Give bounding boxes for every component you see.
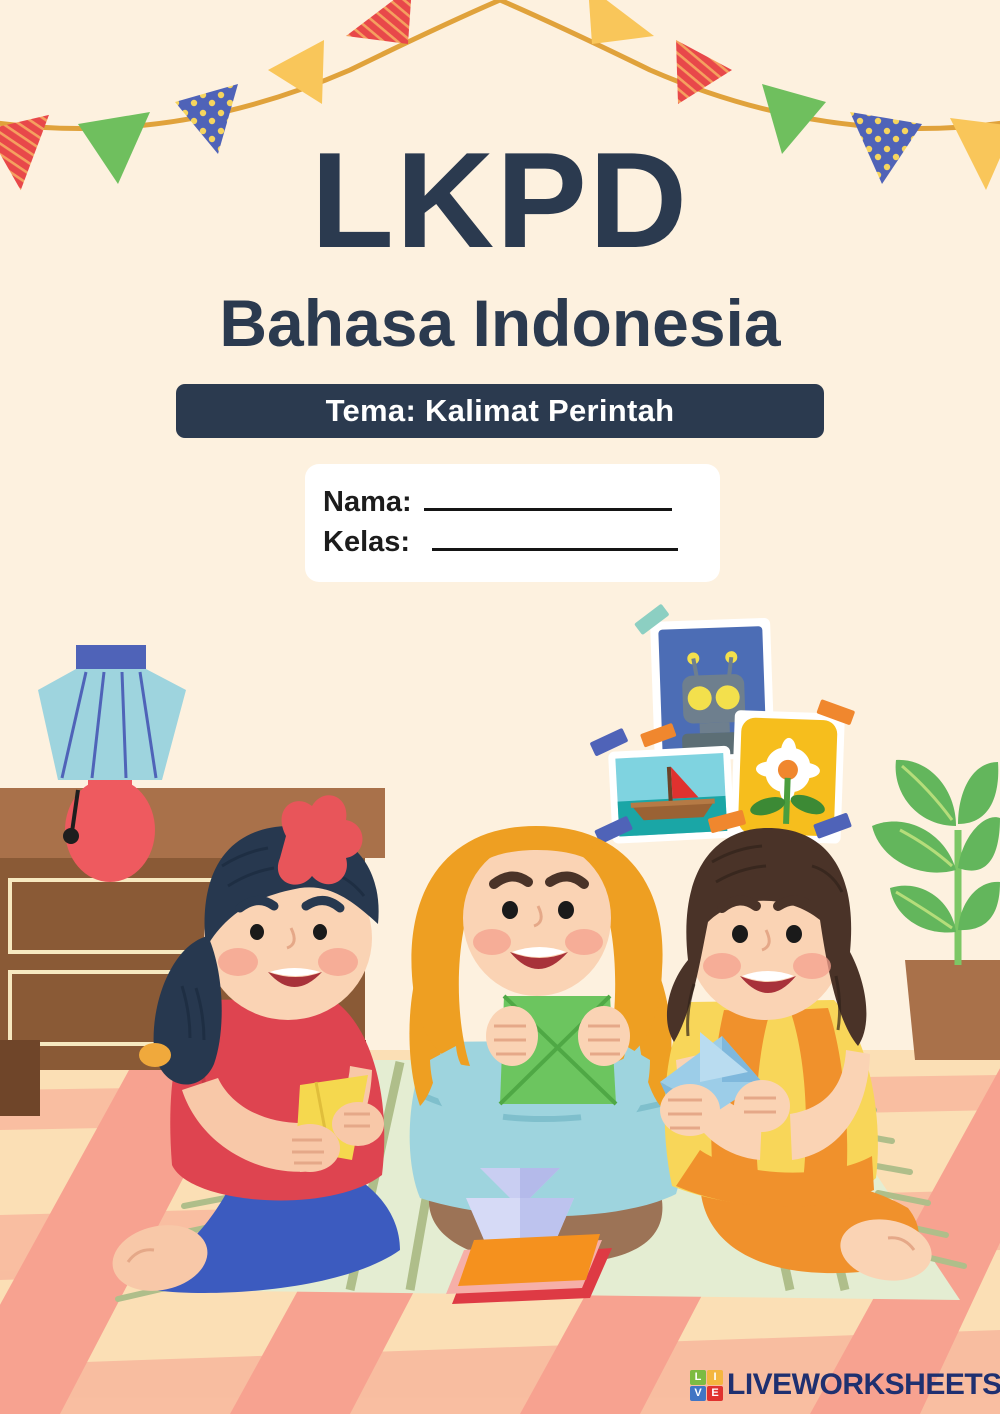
logo-tile-v: V [690,1386,706,1401]
logo-tile-i: I [707,1370,723,1385]
logo-tile-e: E [707,1386,723,1401]
theme-label: Tema: Kalimat Perintah [326,393,675,429]
logo-tile-grid: L I V E [690,1370,723,1401]
kelas-label: Kelas: [323,526,410,559]
nama-input[interactable] [424,508,672,511]
bunting-flag-left-5 [346,0,412,44]
kelas-input[interactable] [432,548,678,551]
theme-banner: Tema: Kalimat Perintah [176,384,824,438]
nama-row: Nama: [323,486,672,519]
nama-label: Nama: [323,486,412,519]
liveworksheets-logo: L I V E LIVEWORKSHEETS [690,1368,1000,1402]
worksheet-cover-page: LKPD Bahasa Indonesia Tema: Kalimat Peri… [0,0,1000,1414]
logo-wordmark: LIVEWORKSHEETS [727,1368,1000,1402]
flower-picture [730,696,856,844]
bunting-flag-right-2 [676,40,732,104]
student-info-card: Nama: Kelas: [305,464,720,582]
bunting-flag-left-4 [268,40,324,104]
kelas-row: Kelas: [323,526,678,559]
page-title: LKPD [0,132,1000,268]
bunting-flag-right-1 [588,0,654,44]
page-subtitle: Bahasa Indonesia [0,290,1000,356]
logo-tile-l: L [690,1370,706,1385]
